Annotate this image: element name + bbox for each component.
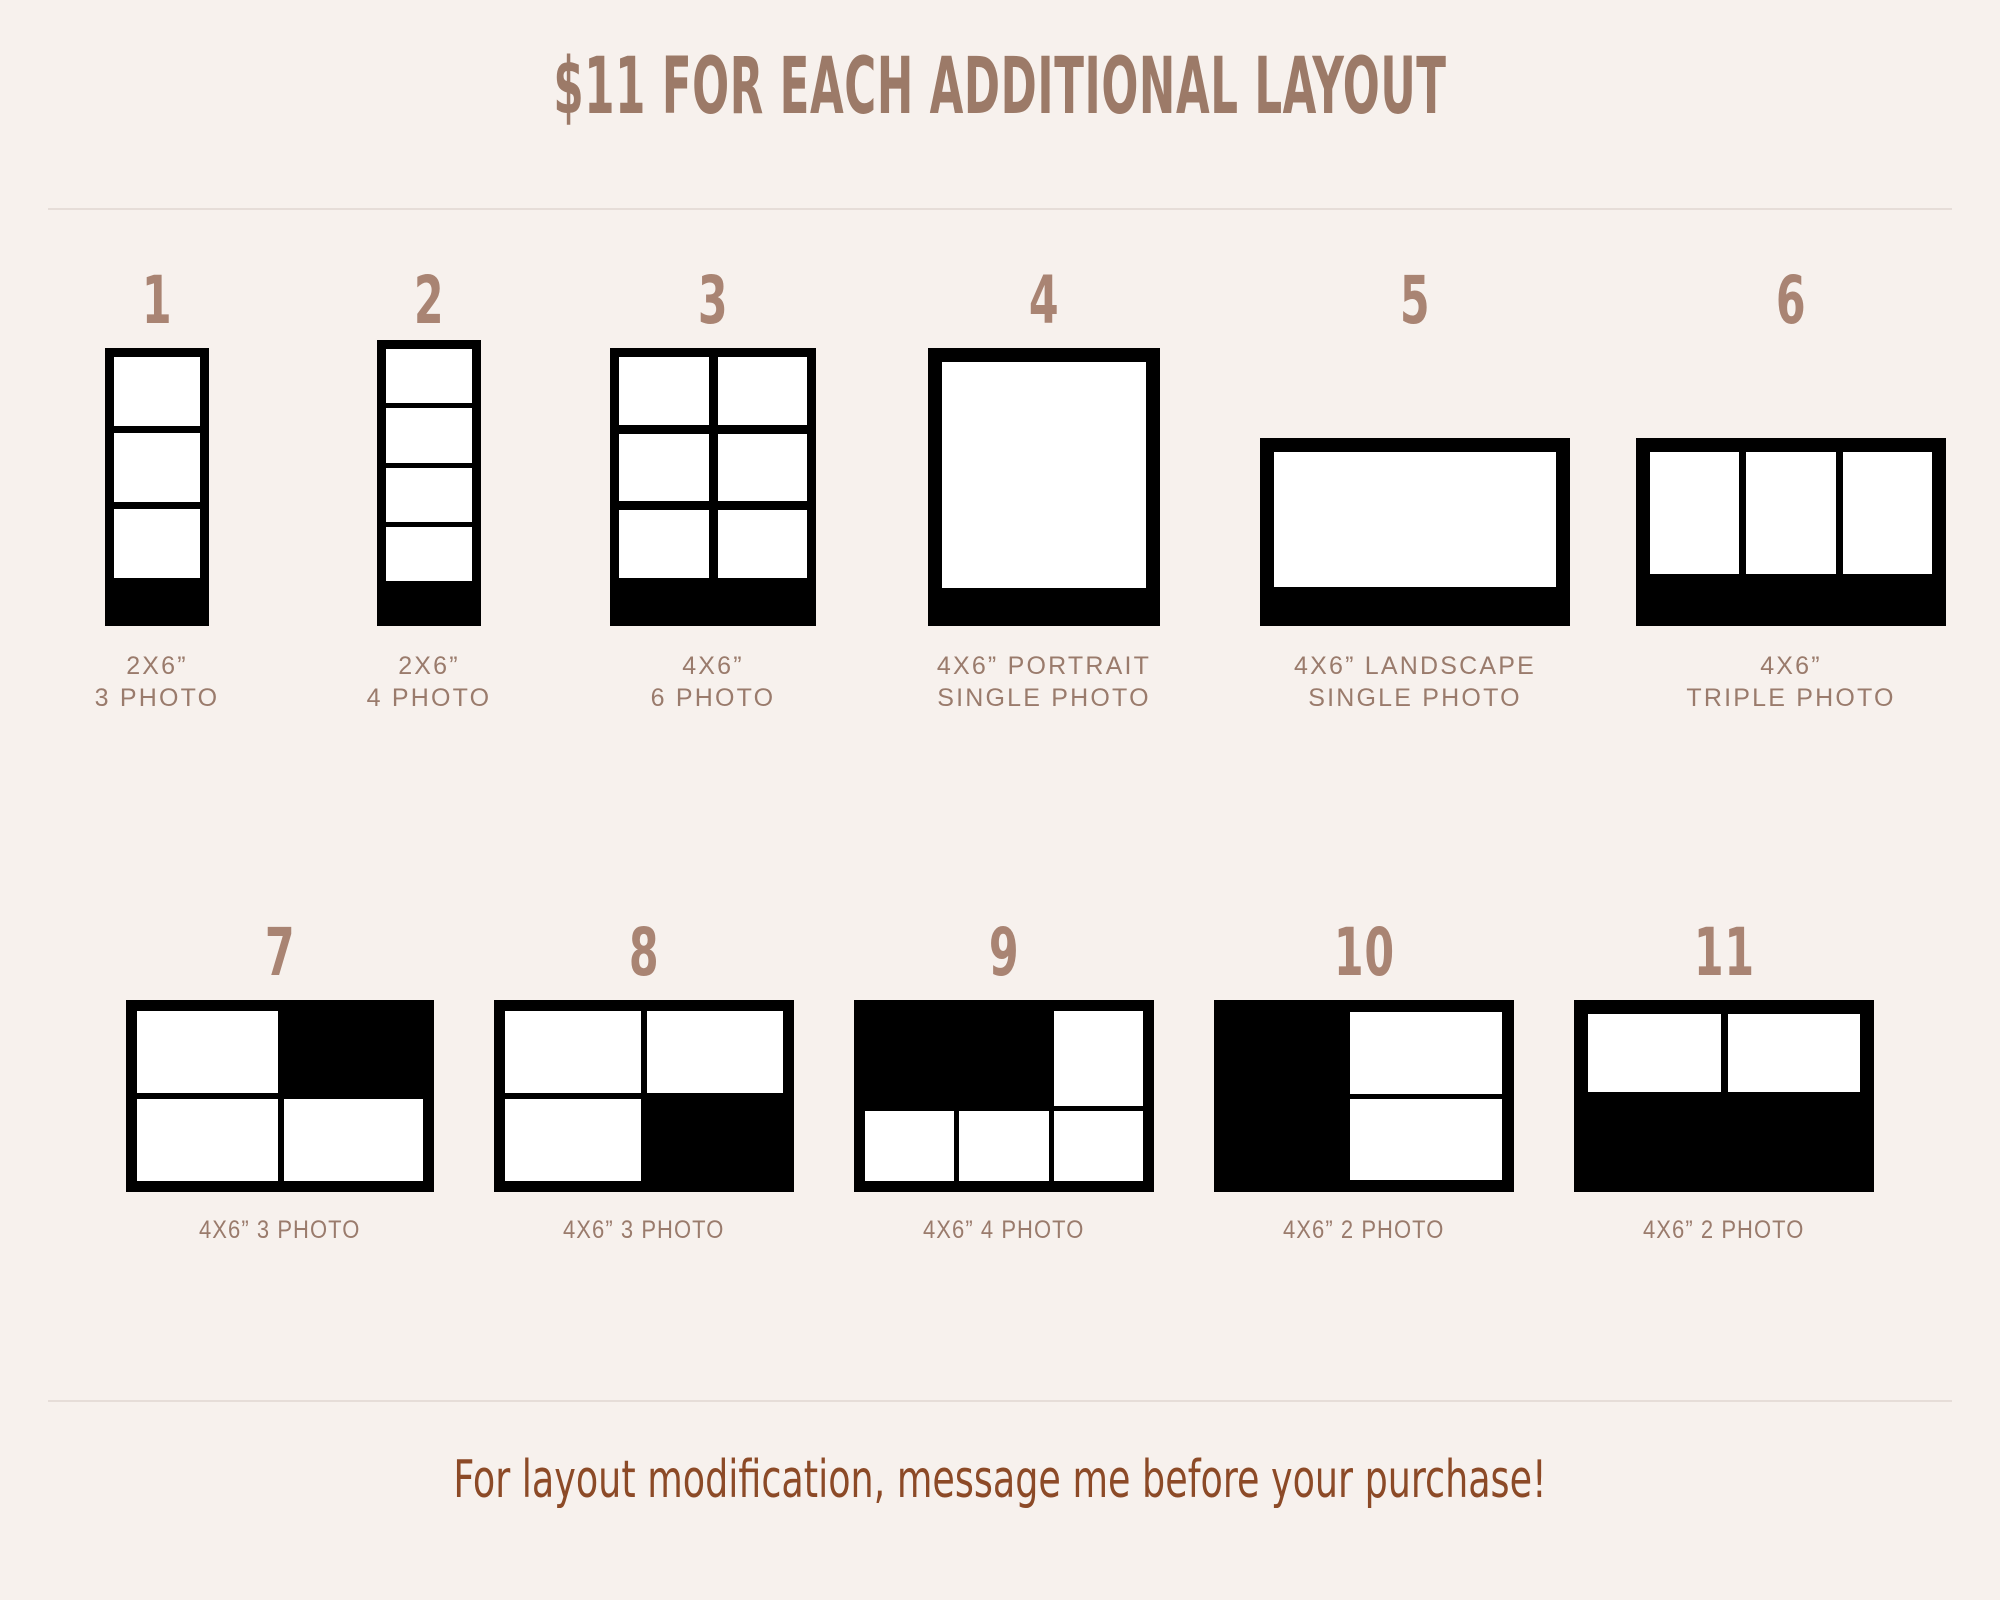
layout-art-wrap bbox=[610, 348, 816, 626]
photo-slot bbox=[1588, 1014, 1721, 1092]
layout-caption: 4X6” 3 PHOTO bbox=[199, 1214, 360, 1246]
layout-card-11[interactable]: 11 4X6” 2 PHOTO bbox=[1574, 920, 1874, 1246]
photo-slot bbox=[718, 357, 808, 425]
layout-number: 10 bbox=[1334, 920, 1395, 986]
layout-caption: 2X6” 3 PHOTO bbox=[95, 650, 220, 714]
layout-art-4x6-3photo-b bbox=[494, 1000, 794, 1192]
layout-caption: 2X6” 4 PHOTO bbox=[367, 650, 492, 714]
layout-art-wrap bbox=[377, 348, 481, 626]
layout-number: 4 bbox=[1029, 268, 1059, 334]
layout-art-4x6-portrait-single bbox=[928, 348, 1160, 626]
layout-card-10[interactable]: 10 4X6” 2 PHOTO bbox=[1214, 920, 1514, 1246]
photo-slot bbox=[1054, 1011, 1143, 1106]
layout-art-4x6-landscape-single bbox=[1260, 438, 1570, 626]
layout-art-wrap bbox=[494, 1000, 794, 1192]
blank-slot bbox=[1226, 1012, 1345, 1180]
photo-slot bbox=[718, 434, 808, 502]
photo-slot bbox=[1746, 452, 1835, 574]
layout-caption: 4X6” TRIPLE PHOTO bbox=[1686, 650, 1895, 714]
layout-number: 6 bbox=[1776, 268, 1806, 334]
layout-number: 9 bbox=[989, 920, 1019, 986]
photo-slot bbox=[386, 349, 472, 403]
photo-slot bbox=[114, 433, 200, 502]
layout-row-2: 7 4X6” 3 PHOTO 8 bbox=[48, 920, 1952, 1246]
photo-slot bbox=[619, 434, 709, 502]
photo-slot bbox=[619, 510, 709, 578]
layout-art-wrap bbox=[1260, 348, 1570, 626]
layout-art-4x6-4photo bbox=[854, 1000, 1154, 1192]
blank-slot bbox=[865, 1011, 1049, 1106]
photo-slot bbox=[959, 1111, 1048, 1181]
layout-art-2x6-3photo bbox=[105, 348, 209, 626]
photo-slot bbox=[1350, 1012, 1502, 1094]
layout-art-wrap bbox=[928, 348, 1160, 626]
layout-number: 8 bbox=[629, 920, 659, 986]
layout-art-4x6-triple bbox=[1636, 438, 1946, 626]
layout-card-9[interactable]: 9 4X6” 4 PHOTO bbox=[854, 920, 1154, 1246]
layout-art-wrap bbox=[1574, 1000, 1874, 1192]
layout-caption: 4X6” LANDSCAPE SINGLE PHOTO bbox=[1294, 650, 1536, 714]
photo-slot bbox=[1274, 452, 1556, 587]
photo-slot bbox=[284, 1099, 423, 1181]
layout-card-2[interactable]: 2 2X6” 4 PHOTO bbox=[326, 268, 532, 714]
photo-slot bbox=[386, 408, 472, 462]
photo-slot bbox=[114, 509, 200, 578]
photo-slot bbox=[942, 362, 1146, 588]
photo-slot bbox=[1728, 1014, 1861, 1092]
layout-card-8[interactable]: 8 4X6” 3 PHOTO bbox=[494, 920, 794, 1246]
divider-bottom bbox=[48, 1400, 1952, 1402]
layout-caption: 4X6” 3 PHOTO bbox=[563, 1214, 724, 1246]
photo-slot bbox=[505, 1099, 641, 1181]
photo-slot bbox=[137, 1011, 278, 1093]
photo-slot bbox=[386, 527, 472, 581]
photo-slot bbox=[865, 1111, 954, 1181]
layout-art-4x6-2photo-b bbox=[1574, 1000, 1874, 1192]
layout-card-5[interactable]: 5 4X6” LANDSCAPE SINGLE PHOTO bbox=[1260, 268, 1570, 714]
photo-slot bbox=[386, 468, 472, 522]
layout-card-7[interactable]: 7 4X6” 3 PHOTO bbox=[126, 920, 434, 1246]
layout-card-1[interactable]: 1 2X6” 3 PHOTO bbox=[54, 268, 260, 714]
divider-top bbox=[48, 208, 1952, 210]
layout-number: 5 bbox=[1400, 268, 1430, 334]
layout-art-2x6-4photo bbox=[377, 340, 481, 626]
layout-row-1: 1 2X6” 3 PHOTO 2 bbox=[48, 268, 1952, 714]
layout-number: 2 bbox=[414, 268, 444, 334]
photo-slot bbox=[1843, 452, 1932, 574]
photo-slot bbox=[1054, 1111, 1143, 1181]
layout-number: 7 bbox=[265, 920, 295, 986]
layout-caption: 4X6” 2 PHOTO bbox=[1283, 1214, 1444, 1246]
photo-slot bbox=[1350, 1099, 1502, 1181]
layout-card-6[interactable]: 6 4X6” TRIPLE PHOTO bbox=[1636, 268, 1946, 714]
layout-number: 1 bbox=[142, 268, 172, 334]
layout-art-4x6-2photo-a bbox=[1214, 1000, 1514, 1192]
photo-slot bbox=[647, 1011, 783, 1093]
footer-note: For layout modification, message me befo… bbox=[220, 1452, 1780, 1509]
photo-slot bbox=[1650, 452, 1739, 574]
photo-slot bbox=[114, 357, 200, 426]
layout-art-wrap bbox=[126, 1000, 434, 1192]
header: $11 FOR EACH ADDITIONAL LAYOUT bbox=[0, 48, 2000, 126]
layout-art-wrap bbox=[854, 1000, 1154, 1192]
layout-art-wrap bbox=[105, 348, 209, 626]
photo-slot bbox=[137, 1099, 278, 1181]
blank-slot bbox=[647, 1099, 783, 1181]
layout-card-4[interactable]: 4 4X6” PORTRAIT SINGLE PHOTO bbox=[894, 268, 1194, 714]
layout-number: 3 bbox=[698, 268, 728, 334]
layout-caption: 4X6” PORTRAIT SINGLE PHOTO bbox=[937, 650, 1151, 714]
layout-price-sheet: $11 FOR EACH ADDITIONAL LAYOUT 1 2X6” 3 … bbox=[0, 0, 2000, 1600]
layout-caption: 4X6” 4 PHOTO bbox=[923, 1214, 1084, 1246]
layout-caption: 4X6” 2 PHOTO bbox=[1643, 1214, 1804, 1246]
layout-caption: 4X6” 6 PHOTO bbox=[651, 650, 776, 714]
layout-art-wrap bbox=[1214, 1000, 1514, 1192]
blank-slot bbox=[284, 1011, 423, 1093]
layout-art-4x6-6photo bbox=[610, 348, 816, 626]
layout-art-wrap bbox=[1636, 348, 1946, 626]
layout-art-4x6-3photo-a bbox=[126, 1000, 434, 1192]
photo-slot bbox=[505, 1011, 641, 1093]
page-title: $11 FOR EACH ADDITIONAL LAYOUT bbox=[380, 48, 1620, 126]
footer: For layout modification, message me befo… bbox=[0, 1452, 2000, 1509]
photo-slot bbox=[619, 357, 709, 425]
layout-number: 11 bbox=[1694, 920, 1755, 986]
photo-slot bbox=[718, 510, 808, 578]
layout-card-3[interactable]: 3 4X6” 6 PHOTO bbox=[598, 268, 828, 714]
